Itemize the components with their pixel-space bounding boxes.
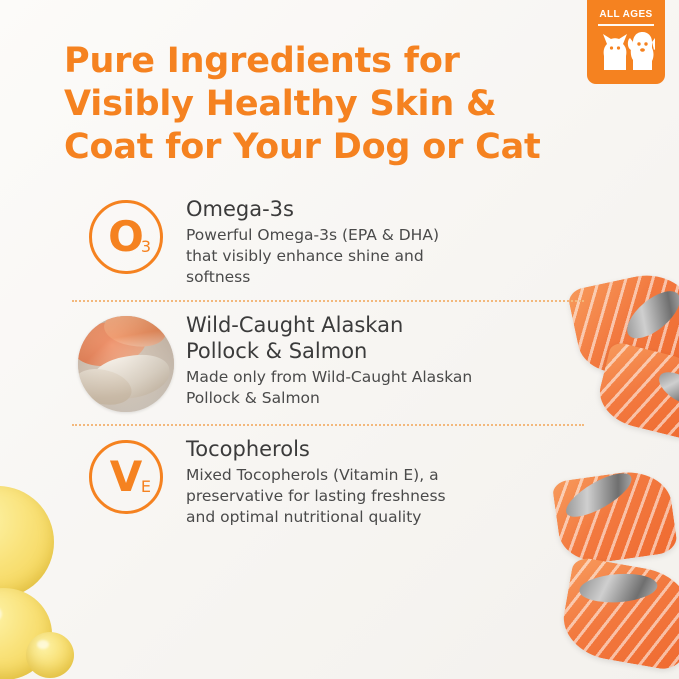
headline-line-2: Visibly Healthy Skin & <box>64 83 604 126</box>
omega-3-letter: O <box>108 216 144 258</box>
feature-desc-line-3: softness <box>186 267 439 288</box>
product-infographic: ALL AGES Pure Ingredients for Visibly He… <box>0 0 679 679</box>
fish-oil-droplet-1 <box>0 486 54 598</box>
feature-text-wild-caught: Wild-Caught Alaskan Pollock & Salmon Mad… <box>180 312 472 409</box>
dog-and-cat-silhouette-icon <box>597 28 655 77</box>
fish-oil-droplet-3 <box>26 632 74 678</box>
feature-text-omega-3s: Omega-3s Powerful Omega-3s (EPA & DHA) t… <box>180 196 439 288</box>
feature-description: Mixed Tocopherols (Vitamin E), a preserv… <box>186 465 446 528</box>
all-ages-badge-label: ALL AGES <box>599 9 652 21</box>
feature-item-wild-caught: Wild-Caught Alaskan Pollock & Salmon Mad… <box>72 302 592 424</box>
vitamin-e-letter: V <box>110 456 143 498</box>
feature-title-line-2: Pollock & Salmon <box>186 338 472 364</box>
feature-desc-line-2: preservative for lasting freshness <box>186 486 446 507</box>
feature-title: Omega-3s <box>186 196 439 222</box>
vitamin-e-ring: V E <box>89 440 163 514</box>
fish-photo-icon <box>72 312 180 412</box>
feature-title-line-1: Wild-Caught Alaskan <box>186 312 472 338</box>
feature-desc-line-3: and optimal nutritional quality <box>186 507 446 528</box>
omega-3-icon: O 3 <box>72 196 180 274</box>
feature-desc-line-1: Powerful Omega-3s (EPA & DHA) <box>186 225 439 246</box>
feature-desc-line-2: that visibly enhance shine and <box>186 246 439 267</box>
omega-3-ring: O 3 <box>89 200 163 274</box>
headline-line-1: Pure Ingredients for <box>64 40 604 83</box>
vitamin-e-icon: V E <box>72 436 180 514</box>
feature-title: Wild-Caught Alaskan Pollock & Salmon <box>186 312 472 364</box>
feature-desc-line-1: Made only from Wild-Caught Alaskan <box>186 367 472 388</box>
omega-3-subscript: 3 <box>141 237 151 256</box>
photo-vignette <box>78 316 174 412</box>
feature-item-tocopherols: V E Tocopherols Mixed Tocopherols (Vitam… <box>72 426 592 540</box>
fish-photo-circle <box>78 316 174 412</box>
feature-text-tocopherols: Tocopherols Mixed Tocopherols (Vitamin E… <box>180 436 446 528</box>
badge-divider <box>598 24 654 26</box>
feature-desc-line-2: Pollock & Salmon <box>186 388 472 409</box>
page-title: Pure Ingredients for Visibly Healthy Ski… <box>64 40 604 169</box>
feature-item-omega-3s: O 3 Omega-3s Powerful Omega-3s (EPA & DH… <box>72 186 592 300</box>
feature-desc-line-1: Mixed Tocopherols (Vitamin E), a <box>186 465 446 486</box>
headline-line-3: Coat for Your Dog or Cat <box>64 126 604 169</box>
salmon-fillet-photo-4 <box>558 556 679 672</box>
all-ages-badge: ALL AGES <box>587 0 665 84</box>
feature-list: O 3 Omega-3s Powerful Omega-3s (EPA & DH… <box>72 186 592 540</box>
feature-description: Powerful Omega-3s (EPA & DHA) that visib… <box>186 225 439 288</box>
feature-description: Made only from Wild-Caught Alaskan Pollo… <box>186 367 472 409</box>
feature-title: Tocopherols <box>186 436 446 462</box>
vitamin-e-subscript: E <box>141 477 151 496</box>
